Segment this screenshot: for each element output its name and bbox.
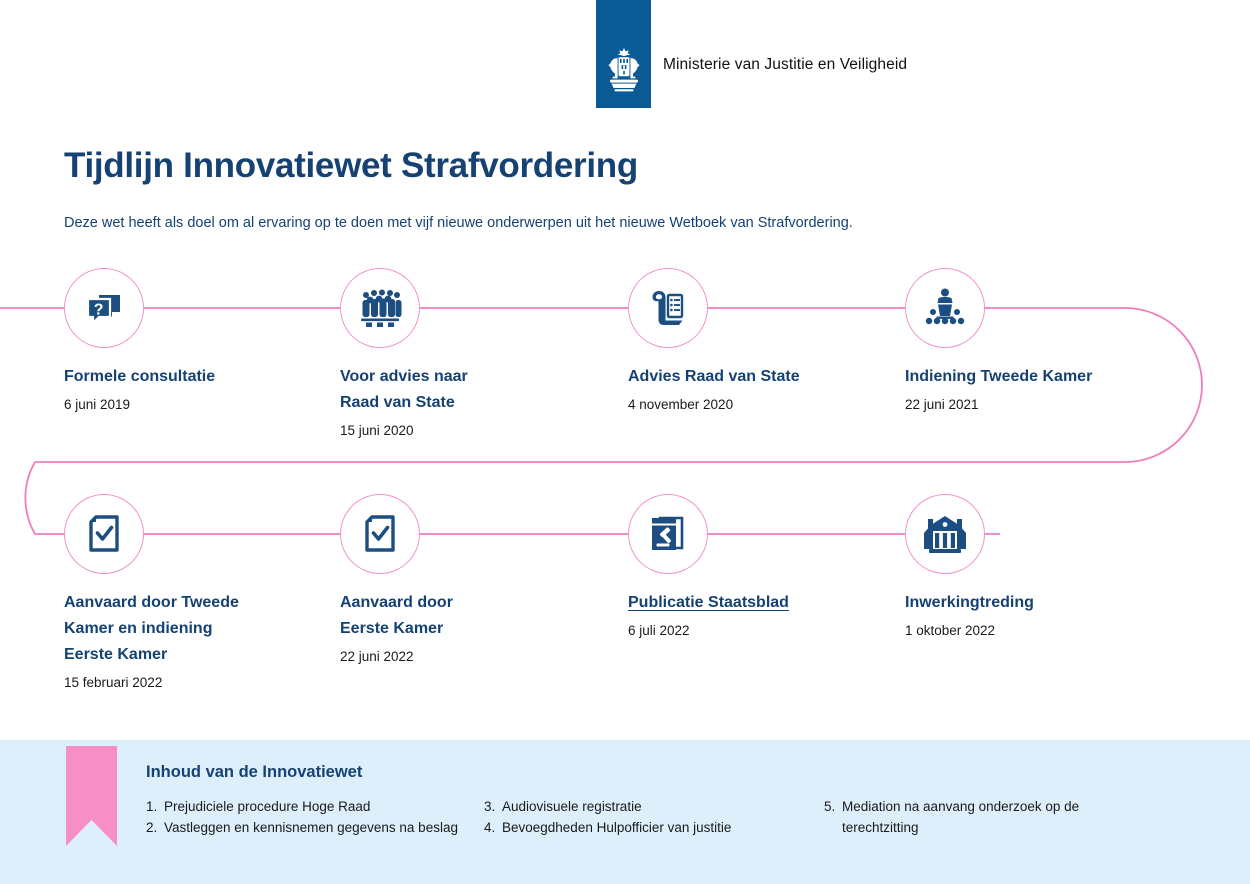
scroll-document-icon: [646, 286, 690, 330]
document-check-icon: [83, 512, 125, 556]
list-item-text: Vastleggen en kennisnemen gegevens na be…: [164, 818, 484, 839]
svg-text:?: ?: [94, 302, 104, 319]
list-item-text: Audiovisuele registratie: [502, 797, 824, 818]
milestone-inwerkingtreding[interactable]: Inwerkingtreding 1 oktober 2022: [905, 494, 1165, 638]
milestone-indiening-tweede-kamer[interactable]: Indiening Tweede Kamer 22 juni 2021: [905, 268, 1165, 412]
list-item: 1. Prejudiciele procedure Hoge Raad: [146, 797, 484, 818]
milestone-date: 22 juni 2021: [905, 397, 1165, 412]
milestone-publicatie-staatsblad[interactable]: Publicatie Staatsblad 6 juli 2022: [628, 494, 888, 638]
milestone-date: 15 februari 2022: [64, 675, 324, 690]
milestone-icon-circle: [64, 494, 144, 574]
list-item: 2. Vastleggen en kennisnemen gegevens na…: [146, 818, 484, 839]
milestone-icon-circle: [340, 494, 420, 574]
list-item: 3. Audiovisuele registratie: [484, 797, 824, 818]
footer-column-1: 1. Prejudiciele procedure Hoge Raad 2. V…: [146, 797, 484, 838]
footer-column-3: 5. Mediation na aanvang onderzoek op de …: [824, 797, 1124, 838]
milestone-title-link[interactable]: Publicatie Staatsblad: [628, 590, 888, 616]
milestone-date: 1 oktober 2022: [905, 623, 1165, 638]
milestone-date: 4 november 2020: [628, 397, 888, 412]
list-item-text: Bevoegdheden Hulpofficier van justitie: [502, 818, 824, 839]
list-item-text: Mediation na aanvang onderzoek op de ter…: [842, 797, 1124, 838]
page-title: Tijdlijn Innovatiewet Strafvordering: [64, 146, 638, 186]
milestone-icon-circle: [628, 494, 708, 574]
milestone-date: 15 juni 2020: [340, 423, 600, 438]
logo-blue-bar: [596, 0, 651, 108]
footer-title: Inhoud van de Innovatiewet: [146, 763, 362, 782]
list-item-number: 4.: [484, 818, 502, 839]
milestone-advies-raad-van-state[interactable]: Advies Raad van State 4 november 2020: [628, 268, 888, 412]
milestone-aanvaard-door-tweede-kamer[interactable]: Aanvaard door Tweede Kamer en indiening …: [64, 494, 324, 690]
milestone-title: Aanvaard door Eerste Kamer: [340, 590, 600, 642]
milestone-title: Indiening Tweede Kamer: [905, 364, 1165, 390]
speaker-podium-audience-icon: [923, 286, 967, 330]
milestone-title: Formele consultatie: [64, 364, 324, 390]
milestone-date: 6 juni 2019: [64, 397, 324, 412]
ministry-logo: Ministerie van Justitie en Veiligheid: [596, 0, 907, 108]
list-item-number: 3.: [484, 797, 502, 818]
milestone-aanvaard-door-eerste-kamer[interactable]: Aanvaard door Eerste Kamer 22 juni 2022: [340, 494, 600, 664]
list-item-number: 1.: [146, 797, 164, 818]
milestone-voor-advies-naar-raad-van-state[interactable]: Voor advies naar Raad van State 15 juni …: [340, 268, 600, 438]
milestone-date: 6 juli 2022: [628, 623, 888, 638]
dutch-coat-of-arms-icon: [604, 47, 644, 93]
courthouse-building-icon: [922, 513, 968, 555]
milestone-date: 22 juni 2022: [340, 649, 600, 664]
milestone-icon-circle: ?: [64, 268, 144, 348]
page-subtitle: Deze wet heeft als doel om al ervaring o…: [64, 215, 853, 231]
milestone-title: Advies Raad van State: [628, 364, 888, 390]
milestone-title: Aanvaard door Tweede Kamer en indiening …: [64, 590, 324, 668]
ministry-label: Ministerie van Justitie en Veiligheid: [663, 56, 907, 74]
milestone-title: Inwerkingtreding: [905, 590, 1165, 616]
document-check-icon: [359, 512, 401, 556]
footer-content-list: 1. Prejudiciele procedure Hoge Raad 2. V…: [146, 797, 1206, 838]
list-item: 4. Bevoegdheden Hulpofficier van justiti…: [484, 818, 824, 839]
list-item: 5. Mediation na aanvang onderzoek op de …: [824, 797, 1124, 838]
infographic-page: Ministerie van Justitie en Veiligheid Ti…: [0, 0, 1250, 884]
law-book-gavel-icon: [646, 512, 690, 556]
milestone-icon-circle: [905, 494, 985, 574]
milestone-icon-circle: [905, 268, 985, 348]
milestone-icon-circle: [628, 268, 708, 348]
milestone-title: Voor advies naar Raad van State: [340, 364, 600, 416]
list-item-number: 2.: [146, 818, 164, 839]
footer-column-2: 3. Audiovisuele registratie 4. Bevoegdhe…: [484, 797, 824, 838]
list-item-text: Prejudiciele procedure Hoge Raad: [164, 797, 484, 818]
milestone-icon-circle: [340, 268, 420, 348]
group-of-people-icon: [357, 286, 403, 330]
list-item-number: 5.: [824, 797, 842, 838]
speech-bubbles-question-icon: ?: [82, 286, 126, 330]
milestone-formele-consultatie[interactable]: ? Formele consultatie 6 juni 2019: [64, 268, 324, 412]
